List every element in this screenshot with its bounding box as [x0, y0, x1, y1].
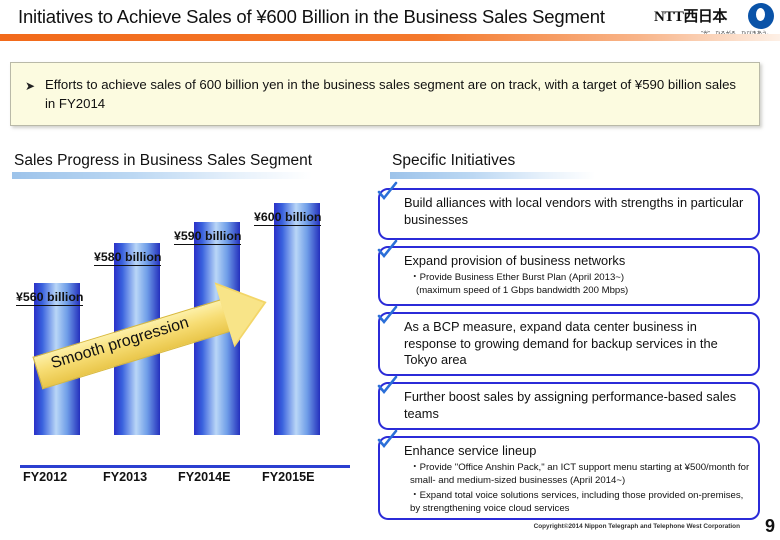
check-icon — [376, 305, 398, 327]
initiative-5-sub-1: ・Provide "Office Anshin Pack," an ICT su… — [410, 462, 752, 487]
initiative-2-sub-1: ・Provide Business Ether Burst Plan (Apri… — [410, 272, 752, 285]
check-icon — [376, 429, 398, 451]
initiative-1-text: Build alliances with local vendors with … — [404, 195, 750, 228]
logo-wordmark: NTT西日本 — [654, 5, 727, 26]
arrow-head-icon — [215, 272, 273, 345]
bar-label-fy2012: ¥560 billion — [16, 290, 83, 306]
page-number: 9 — [765, 516, 775, 537]
copyright-text: Copyright©2014 Nippon Telegraph and Tele… — [470, 523, 740, 530]
smooth-progression-arrow: Smooth progression — [25, 256, 300, 418]
callout-text: Efforts to achieve sales of 600 billion … — [45, 75, 745, 113]
initiative-2-text: Expand provision of business networks — [404, 253, 750, 270]
initiative-box-3[interactable]: As a BCP measure, expand data center bus… — [378, 312, 760, 376]
initiatives-section-heading: Specific Initiatives — [392, 152, 515, 170]
initiative-4-text: Further boost sales by assigning perform… — [404, 389, 750, 422]
x-label-fy2014e: FY2014E — [178, 470, 231, 484]
slide-canvas: Initiatives to Achieve Sales of ¥600 Bil… — [0, 0, 780, 540]
initiative-2-sub-2: (maximum speed of 1 Gbps bandwidth 200 M… — [416, 285, 752, 298]
initiative-5-sub-2: ・Expand total voice solutions services, … — [410, 490, 752, 515]
page-title: Initiatives to Achieve Sales of ¥600 Bil… — [18, 6, 668, 28]
initiatives-heading-underline — [390, 172, 595, 179]
ntt-west-logo: NTT西日本 "光"、ひろがる、ひびきあう。 — [654, 3, 774, 37]
x-label-fy2013: FY2013 — [103, 470, 147, 484]
bar-label-fy2014e: ¥590 billion — [174, 229, 241, 245]
callout-bullet-icon: ➤ — [25, 79, 35, 93]
initiative-box-1[interactable]: Build alliances with local vendors with … — [378, 188, 760, 240]
bar-label-fy2013: ¥580 billion — [94, 250, 161, 266]
chart-baseline-axis — [20, 465, 350, 468]
check-icon — [376, 181, 398, 203]
x-label-fy2015e: FY2015E — [262, 470, 315, 484]
initiative-box-4[interactable]: Further boost sales by assigning perform… — [378, 382, 760, 430]
check-icon — [376, 239, 398, 261]
check-icon — [376, 375, 398, 397]
chart-heading-underline — [12, 172, 312, 179]
chart-section-heading: Sales Progress in Business Sales Segment — [14, 152, 312, 170]
initiative-box-5[interactable]: Enhance service lineup ・Provide "Office … — [378, 436, 760, 520]
initiative-5-text: Enhance service lineup — [404, 443, 750, 460]
header-divider — [0, 34, 780, 41]
x-label-fy2012: FY2012 — [23, 470, 67, 484]
bar-label-fy2015e: ¥600 billion — [254, 210, 321, 226]
ntt-circle-icon — [748, 3, 774, 29]
initiative-box-2[interactable]: Expand provision of business networks ・P… — [378, 246, 760, 306]
sales-bar-chart: ¥560 billion ¥580 billion ¥590 billion ¥… — [10, 185, 360, 495]
initiative-3-text: As a BCP measure, expand data center bus… — [404, 319, 750, 369]
summary-callout: ➤ Efforts to achieve sales of 600 billio… — [10, 62, 760, 126]
